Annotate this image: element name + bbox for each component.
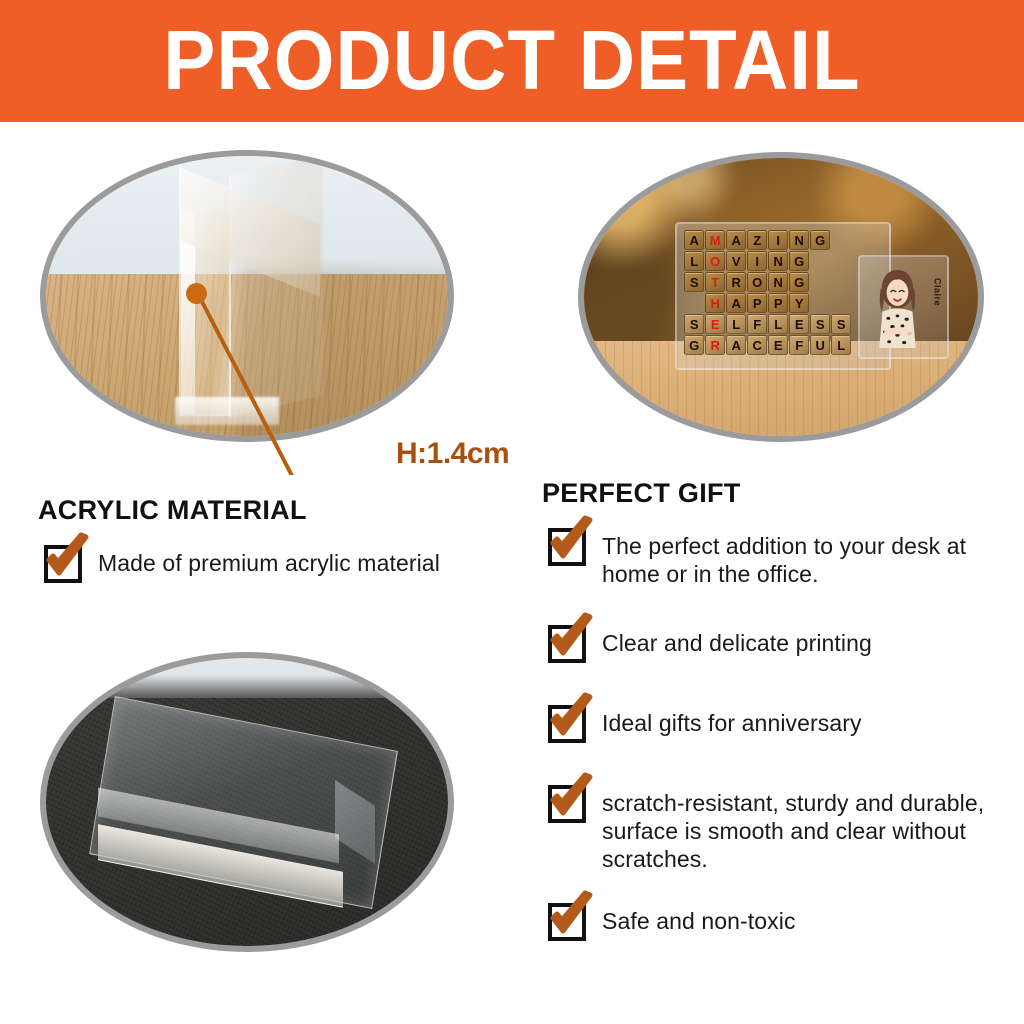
bullet-item: Clear and delicate printing bbox=[548, 625, 1000, 663]
bullet-text: The perfect addition to your desk at hom… bbox=[602, 528, 1000, 588]
letter-tile: S bbox=[810, 314, 830, 334]
checkbox-checked[interactable] bbox=[548, 528, 586, 566]
photo-acrylic-slab bbox=[40, 652, 454, 952]
letter-tile: G bbox=[684, 335, 704, 355]
heading-acrylic-material: ACRYLIC MATERIAL bbox=[38, 495, 307, 526]
letter-tile: A bbox=[726, 230, 746, 250]
letter-tile: U bbox=[810, 335, 830, 355]
letter-tile-highlight: H bbox=[705, 293, 725, 313]
tile-row: H A P P Y bbox=[684, 293, 881, 313]
bullet-item: scratch-resistant, sturdy and durable, s… bbox=[548, 785, 1000, 873]
checkbox-checked[interactable] bbox=[548, 625, 586, 663]
letter-tile: L bbox=[684, 251, 704, 271]
letter-tile-highlight: E bbox=[705, 314, 725, 334]
photo-acrylic-slab-content bbox=[46, 658, 448, 946]
letter-tile: P bbox=[747, 293, 767, 313]
bullet-text: scratch-resistant, sturdy and durable, s… bbox=[602, 785, 1000, 873]
checkbox-checked[interactable] bbox=[548, 903, 586, 941]
letter-tile: E bbox=[768, 335, 788, 355]
letter-tile: P bbox=[768, 293, 788, 313]
letter-tile: Y bbox=[789, 293, 809, 313]
bullet-item: The perfect addition to your desk at hom… bbox=[548, 528, 1000, 588]
letter-tile-highlight: R bbox=[705, 335, 725, 355]
heading-perfect-gift: PERFECT GIFT bbox=[542, 478, 741, 509]
check-icon bbox=[42, 534, 94, 584]
avatar bbox=[864, 265, 931, 348]
check-icon bbox=[546, 892, 598, 942]
tile-row: S T R O N G bbox=[684, 272, 881, 292]
tile-row: S E L F L E S S bbox=[684, 314, 881, 334]
letter-tile: F bbox=[747, 314, 767, 334]
slate-背景 bbox=[40, 652, 454, 698]
letter-tile: N bbox=[768, 272, 788, 292]
callout-height-label: H:1.4cm bbox=[396, 437, 509, 471]
photo-word-plaque-content: A M A Z I N G L O V I N G S T R O N bbox=[584, 158, 978, 436]
letter-tile: L bbox=[768, 314, 788, 334]
letter-tile-grid: A M A Z I N G L O V I N G S T R O N bbox=[684, 230, 881, 355]
checkbox-checked[interactable] bbox=[548, 705, 586, 743]
letter-tile: I bbox=[768, 230, 788, 250]
letter-tile: Z bbox=[747, 230, 767, 250]
bullet-item: Safe and non-toxic bbox=[548, 903, 1000, 941]
checkbox-checked[interactable] bbox=[44, 545, 82, 583]
acrylic-block-base bbox=[175, 397, 280, 425]
letter-tile: C bbox=[747, 335, 767, 355]
letter-tile: S bbox=[684, 272, 704, 292]
letter-tile: N bbox=[789, 230, 809, 250]
letter-tile: S bbox=[831, 314, 851, 334]
letter-tile-highlight: O bbox=[705, 251, 725, 271]
bullet-item: Made of premium acrylic material bbox=[44, 545, 514, 583]
letter-tile: F bbox=[789, 335, 809, 355]
tile-row: G R A C E F U L bbox=[684, 335, 881, 355]
letter-tile: L bbox=[726, 314, 746, 334]
letter-tile: G bbox=[810, 230, 830, 250]
header-banner: PRODUCT DETAIL bbox=[0, 0, 1024, 122]
letter-tile-empty bbox=[684, 293, 704, 313]
plaque-name-label: Claire bbox=[933, 278, 943, 306]
photo-acrylic-edge-content bbox=[46, 156, 448, 436]
letter-tile: V bbox=[726, 251, 746, 271]
check-icon bbox=[546, 694, 598, 744]
letter-tile: A bbox=[684, 230, 704, 250]
bullet-item: Ideal gifts for anniversary bbox=[548, 705, 1000, 743]
letter-tile: E bbox=[789, 314, 809, 334]
bullet-text: Clear and delicate printing bbox=[602, 625, 872, 657]
callout-dot-icon bbox=[186, 283, 207, 304]
page-title: PRODUCT DETAIL bbox=[163, 18, 860, 102]
checkbox-checked[interactable] bbox=[548, 785, 586, 823]
bullet-text: Made of premium acrylic material bbox=[98, 545, 440, 577]
letter-tile: A bbox=[726, 335, 746, 355]
check-icon bbox=[546, 517, 598, 567]
letter-tile: S bbox=[684, 314, 704, 334]
photo-acrylic-edge bbox=[40, 150, 454, 442]
letter-tile: O bbox=[747, 272, 767, 292]
letter-tile: L bbox=[831, 335, 851, 355]
letter-tile: G bbox=[789, 251, 809, 271]
photo-word-plaque: A M A Z I N G L O V I N G S T R O N bbox=[578, 152, 984, 442]
check-icon bbox=[546, 774, 598, 824]
check-icon bbox=[546, 614, 598, 664]
letter-tile: I bbox=[747, 251, 767, 271]
letter-tile-highlight: T bbox=[705, 272, 725, 292]
tile-row: L O V I N G bbox=[684, 251, 881, 271]
letter-tile: A bbox=[726, 293, 746, 313]
letter-tile: N bbox=[768, 251, 788, 271]
letter-tile-highlight: M bbox=[705, 230, 725, 250]
bullet-text: Ideal gifts for anniversary bbox=[602, 705, 862, 737]
letter-tile: G bbox=[789, 272, 809, 292]
letter-tile: R bbox=[726, 272, 746, 292]
tile-row: A M A Z I N G bbox=[684, 230, 881, 250]
bullet-text: Safe and non-toxic bbox=[602, 903, 796, 935]
